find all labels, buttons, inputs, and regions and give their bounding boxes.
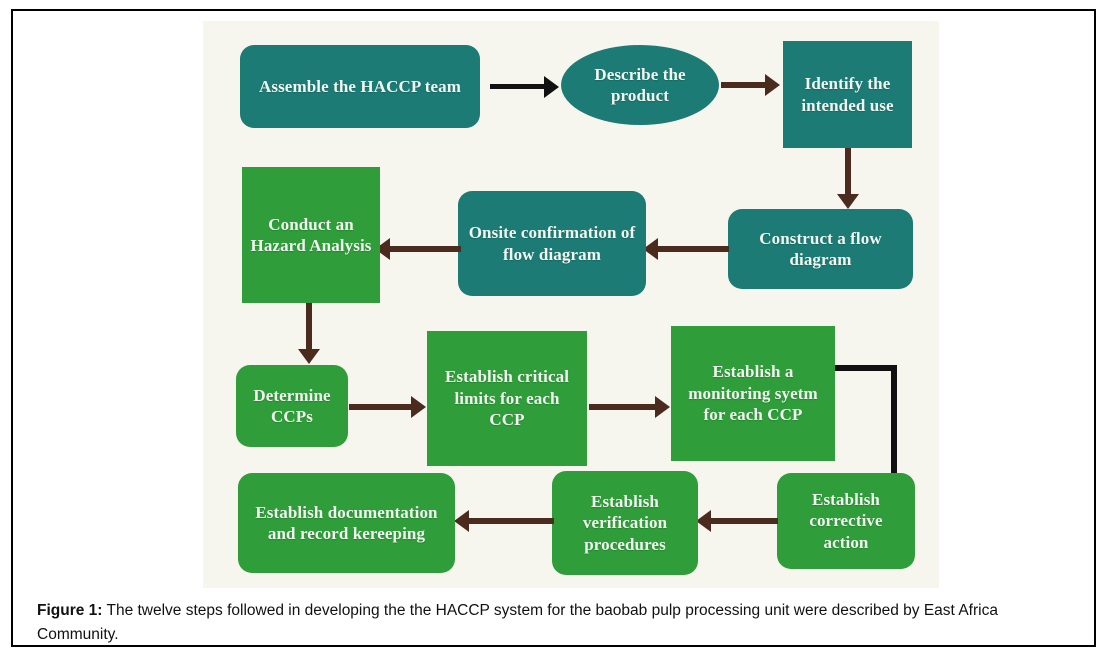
figure-caption-text: The twelve steps followed in developing … xyxy=(37,602,998,643)
arrow-shaft xyxy=(845,148,851,196)
arrow-shaft xyxy=(468,518,554,524)
arrow-shaft xyxy=(306,303,312,351)
arrow-shaft xyxy=(389,246,461,252)
flow-node-intended-use[interactable]: Identify the intended use xyxy=(783,41,912,148)
haccp-flow-diagram: Assemble the HACCP team Describe the pro… xyxy=(203,21,939,588)
flow-node-hazard-analysis[interactable]: Conduct an Hazard Analysis xyxy=(242,167,380,303)
figure-caption-label: Figure 1: xyxy=(37,602,102,619)
flow-arrow-assemble-to-describe xyxy=(490,76,560,98)
arrow-shaft xyxy=(490,84,546,89)
flow-node-onsite-confirmation[interactable]: Onsite confirmation of flow diagram xyxy=(458,191,646,296)
flow-node-label: Identify the intended use xyxy=(791,73,904,116)
flow-node-verification-procedures[interactable]: Establish verification procedures xyxy=(552,471,698,575)
flow-arrow-onsite-to-hazard-analysis xyxy=(375,238,461,260)
flow-node-label: Describe the product xyxy=(569,64,711,107)
flow-node-label: Establish documentation and record keree… xyxy=(246,502,447,545)
arrowhead-left xyxy=(454,510,469,532)
flow-node-label: Establish critical limits for each CCP xyxy=(435,366,579,430)
flow-node-corrective-action[interactable]: Establish corrective action xyxy=(777,473,915,569)
flow-arrow-corrective-to-verification xyxy=(696,510,778,532)
flow-node-monitoring-system[interactable]: Establish a monitoring syetm for each CC… xyxy=(671,326,835,461)
flow-node-label: Conduct an Hazard Analysis xyxy=(250,214,372,257)
figure-frame: Assemble the HACCP team Describe the pro… xyxy=(11,9,1096,647)
flow-node-label: Assemble the HACCP team xyxy=(248,76,472,97)
flow-node-determine-ccps[interactable]: Determine CCPs xyxy=(236,365,348,447)
flow-node-construct-flow-diagram[interactable]: Construct a flow diagram xyxy=(728,209,913,289)
arrow-shaft xyxy=(721,82,767,88)
arrowhead-down xyxy=(837,194,859,209)
flow-node-describe-product[interactable]: Describe the product xyxy=(561,45,719,125)
flow-arrow-critical-limits-to-monitoring xyxy=(589,396,671,418)
arrow-shaft-vertical xyxy=(891,365,897,483)
flow-node-critical-limits[interactable]: Establish critical limits for each CCP xyxy=(427,331,587,466)
figure-caption: Figure 1: The twelve steps followed in d… xyxy=(37,599,1082,646)
flow-arrow-verification-to-documentation xyxy=(454,510,554,532)
flow-node-label: Establish a monitoring syetm for each CC… xyxy=(679,361,827,425)
flow-node-assemble-team[interactable]: Assemble the HACCP team xyxy=(240,45,480,128)
arrow-shaft-horizontal xyxy=(835,365,897,371)
flow-node-documentation-recordkeeping[interactable]: Establish documentation and record keree… xyxy=(238,473,455,573)
flow-node-label: Establish corrective action xyxy=(785,489,907,553)
flow-node-label: Onsite confirmation of flow diagram xyxy=(466,222,638,265)
flow-arrow-describe-to-intended-use xyxy=(721,74,783,96)
arrowhead-right xyxy=(411,396,426,418)
arrow-shaft xyxy=(589,404,657,410)
arrow-shaft xyxy=(657,246,729,252)
arrowhead-right xyxy=(765,74,780,96)
arrow-shaft xyxy=(710,518,778,524)
flow-arrow-intended-use-to-construct-flow xyxy=(837,148,859,210)
arrow-shaft xyxy=(349,404,413,410)
flow-node-label: Determine CCPs xyxy=(244,385,340,428)
flow-arrow-construct-to-onsite xyxy=(643,238,729,260)
arrowhead-right xyxy=(655,396,670,418)
arrowhead-down xyxy=(298,349,320,364)
flow-arrow-hazard-to-determine-ccps xyxy=(298,303,320,365)
flow-arrow-determine-ccps-to-critical-limits xyxy=(349,396,427,418)
flow-node-label: Construct a flow diagram xyxy=(736,228,905,271)
arrowhead-right xyxy=(544,76,559,98)
flow-node-label: Establish verification procedures xyxy=(560,491,690,555)
arrowhead-left xyxy=(696,510,711,532)
